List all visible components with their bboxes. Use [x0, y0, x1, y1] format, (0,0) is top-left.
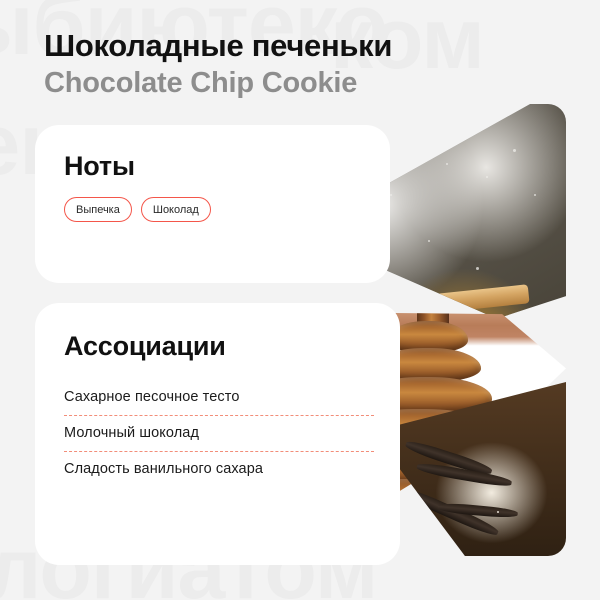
list-item: Молочный шоколад — [64, 416, 374, 451]
associations-card-heading: Ассоциации — [35, 303, 400, 362]
notes-tag-list: Выпечка Шоколад — [35, 182, 390, 222]
page-title: Шоколадные печеньки — [44, 28, 392, 64]
page-subtitle: Chocolate Chip Cookie — [44, 66, 392, 101]
associations-list: Сахарное песочное тесто Молочный шоколад… — [35, 362, 400, 487]
associations-card: Ассоциации Сахарное песочное тесто Молоч… — [35, 303, 400, 565]
note-tag-bakery[interactable]: Выпечка — [64, 197, 132, 222]
list-separator — [64, 415, 374, 416]
list-separator — [64, 451, 374, 452]
page-header: Шоколадные печеньки Chocolate Chip Cooki… — [44, 28, 392, 100]
note-tag-chocolate[interactable]: Шоколад — [141, 197, 211, 222]
list-item: Сладость ванильного сахара — [64, 452, 374, 487]
list-item: Сахарное песочное тесто — [64, 380, 374, 415]
notes-card-heading: Ноты — [35, 125, 390, 182]
notes-card: Ноты Выпечка Шоколад — [35, 125, 390, 283]
